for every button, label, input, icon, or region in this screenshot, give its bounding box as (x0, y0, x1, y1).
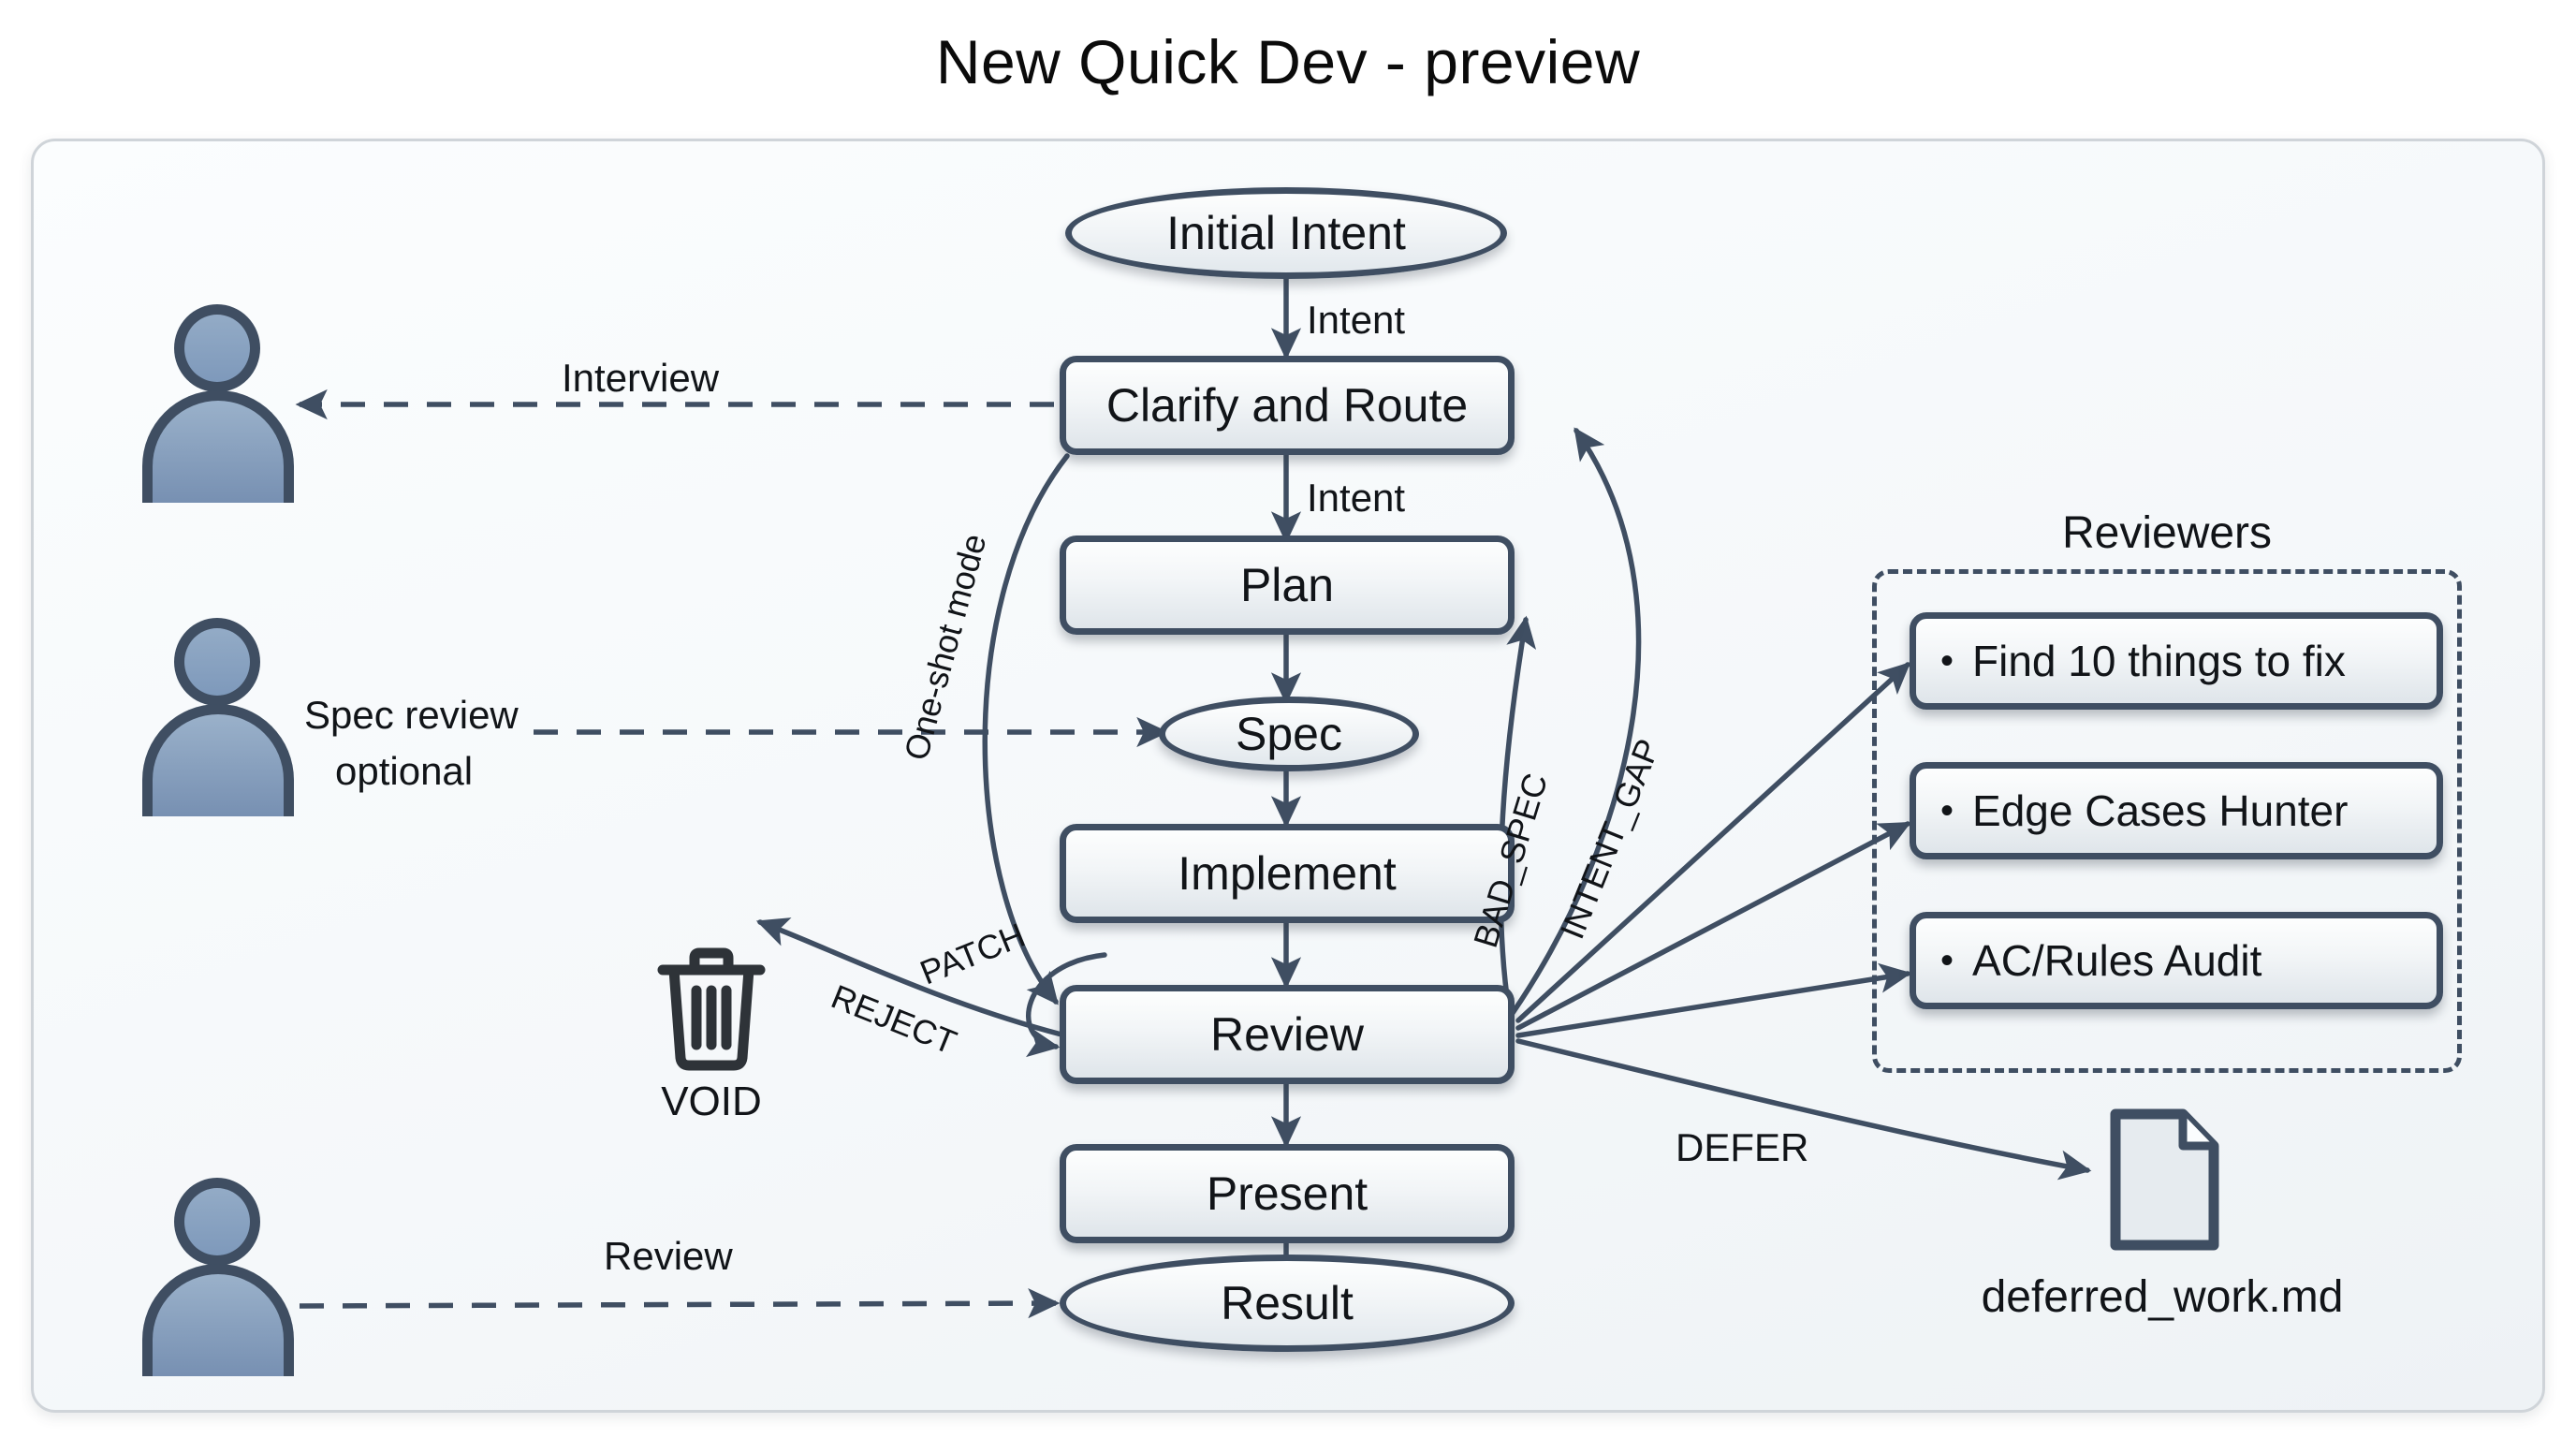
node-label: Result (1221, 1276, 1354, 1330)
actor-user-spec-review[interactable] (139, 618, 298, 819)
person-body-icon (142, 390, 294, 503)
edge-label-intent-1: Intent (1307, 298, 1405, 343)
node-initial-intent[interactable]: Initial Intent (1065, 187, 1507, 279)
actor-user-result-review[interactable] (139, 1178, 298, 1379)
bullet-icon: • (1940, 642, 1954, 680)
document-icon[interactable] (2106, 1105, 2223, 1255)
person-body-icon (142, 1264, 294, 1376)
node-plan[interactable]: Plan (1060, 536, 1515, 635)
edge-label-interview: Interview (562, 356, 719, 401)
reviewer-find-10-things-to-fix[interactable]: • Find 10 things to fix (1910, 612, 2443, 710)
node-review[interactable]: Review (1060, 985, 1515, 1084)
reviewer-ac-rules-audit[interactable]: • AC/Rules Audit (1910, 912, 2443, 1009)
node-clarify-and-route[interactable]: Clarify and Route (1060, 356, 1515, 455)
node-label: Clarify and Route (1106, 378, 1468, 433)
reviewer-label: Find 10 things to fix (1972, 636, 2346, 686)
bullet-icon: • (1940, 792, 1954, 829)
edge-label-defer: DEFER (1676, 1125, 1808, 1170)
reviewers-group-label: Reviewers (1872, 507, 2462, 559)
person-head-icon (174, 304, 260, 392)
edge-label-spec-review-line1: Spec review (304, 693, 519, 738)
page-title: New Quick Dev - preview (0, 26, 2576, 97)
node-label: Plan (1240, 558, 1334, 612)
person-head-icon (174, 618, 260, 706)
node-label: Implement (1178, 846, 1396, 901)
actor-user-interview[interactable] (139, 304, 298, 506)
trash-icon[interactable] (655, 946, 768, 1072)
node-result[interactable]: Result (1060, 1255, 1515, 1352)
reviewer-label: Edge Cases Hunter (1972, 785, 2348, 836)
deferred-work-file-label: deferred_work.md (1891, 1271, 2434, 1323)
reviewer-edge-cases-hunter[interactable]: • Edge Cases Hunter (1910, 762, 2443, 859)
node-label: Initial Intent (1166, 206, 1406, 260)
edge-label-spec-review-line2: optional (335, 749, 473, 794)
void-label: VOID (618, 1078, 805, 1125)
edge-label-result-review: Review (604, 1234, 733, 1279)
person-body-icon (142, 704, 294, 816)
node-spec[interactable]: Spec (1159, 697, 1419, 771)
node-label: Review (1210, 1007, 1364, 1062)
node-implement[interactable]: Implement (1060, 824, 1515, 923)
bullet-icon: • (1940, 942, 1954, 979)
node-present[interactable]: Present (1060, 1144, 1515, 1243)
edge-label-intent-2: Intent (1307, 476, 1405, 521)
person-head-icon (174, 1178, 260, 1266)
node-label: Spec (1236, 707, 1342, 761)
node-label: Present (1207, 1167, 1368, 1221)
reviewer-label: AC/Rules Audit (1972, 935, 2261, 986)
